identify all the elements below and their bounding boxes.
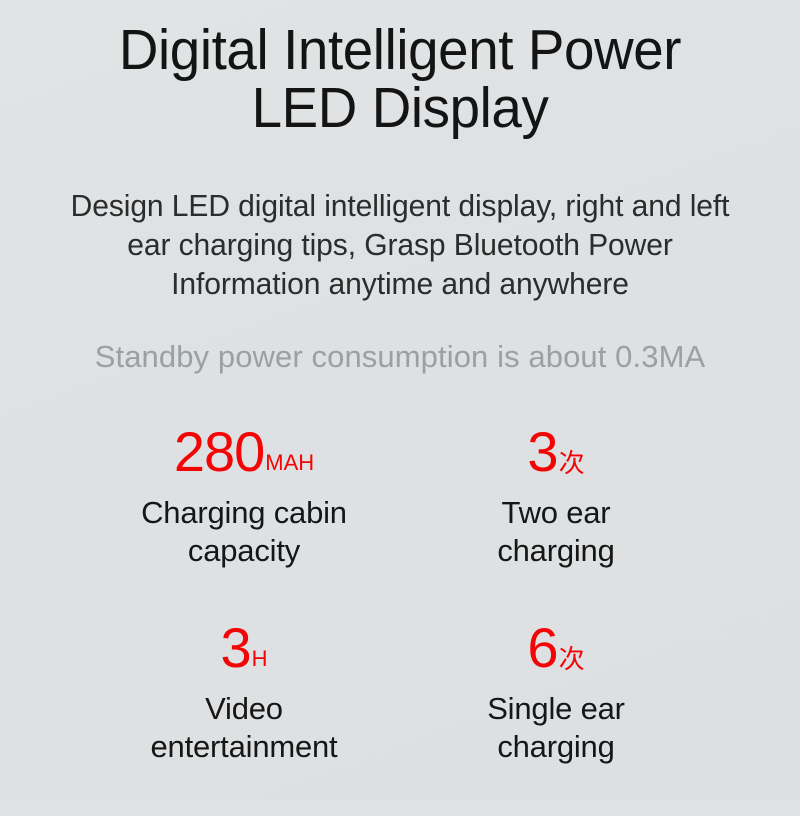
spec-cell-video-entertainment: 3 H Video entertainment [88, 620, 400, 816]
spec-label-line-1: Two ear [497, 494, 614, 532]
spec-value: 3 H [220, 620, 267, 678]
spec-label: Two ear charging [497, 494, 614, 570]
spec-value: 3 次 [527, 424, 584, 482]
spec-label-line-1: Charging cabin [141, 494, 347, 532]
promo-poster: Digital Intelligent Power LED Display De… [0, 0, 800, 800]
spec-unit: 次 [558, 646, 585, 672]
spec-value: 6 次 [527, 620, 584, 678]
page-title-line-1: Digital Intelligent Power [16, 21, 784, 79]
spec-label-line-2: charging [497, 532, 614, 570]
spec-label-line-1: Single ear [487, 690, 625, 728]
description-line-1: Design LED digital intelligent display, … [6, 187, 794, 226]
spec-unit: 次 [558, 450, 585, 476]
spec-grid: 280 MAH Charging cabin capacity 3 次 Two … [88, 424, 712, 816]
spec-number: 280 [174, 424, 264, 480]
spec-label: Charging cabin capacity [141, 494, 347, 570]
page-title-line-2: LED Display [16, 79, 784, 137]
spec-cell-charging-cabin-capacity: 280 MAH Charging cabin capacity [88, 424, 400, 620]
description-line-2: ear charging tips, Grasp Bluetooth Power [6, 226, 794, 265]
spec-unit: MAH [264, 452, 314, 474]
spec-label: Single ear charging [487, 690, 625, 766]
standby-power-note: Standby power consumption is about 0.3MA [0, 338, 800, 376]
spec-label: Video entertainment [151, 690, 338, 766]
description-line-3: Information anytime and anywhere [6, 265, 794, 304]
spec-label-line-1: Video [151, 690, 338, 728]
spec-cell-two-ear-charging: 3 次 Two ear charging [400, 424, 712, 620]
spec-label-line-2: capacity [141, 532, 347, 570]
spec-cell-single-ear-charging: 6 次 Single ear charging [400, 620, 712, 816]
page-title: Digital Intelligent Power LED Display [16, 21, 784, 137]
spec-number: 3 [527, 424, 557, 480]
spec-number: 6 [527, 620, 557, 676]
spec-value: 280 MAH [174, 424, 314, 482]
spec-number: 3 [220, 620, 250, 676]
spec-unit: H [251, 648, 268, 670]
spec-label-line-2: charging [487, 728, 625, 766]
spec-label-line-2: entertainment [151, 728, 338, 766]
description-paragraph: Design LED digital intelligent display, … [6, 187, 794, 304]
